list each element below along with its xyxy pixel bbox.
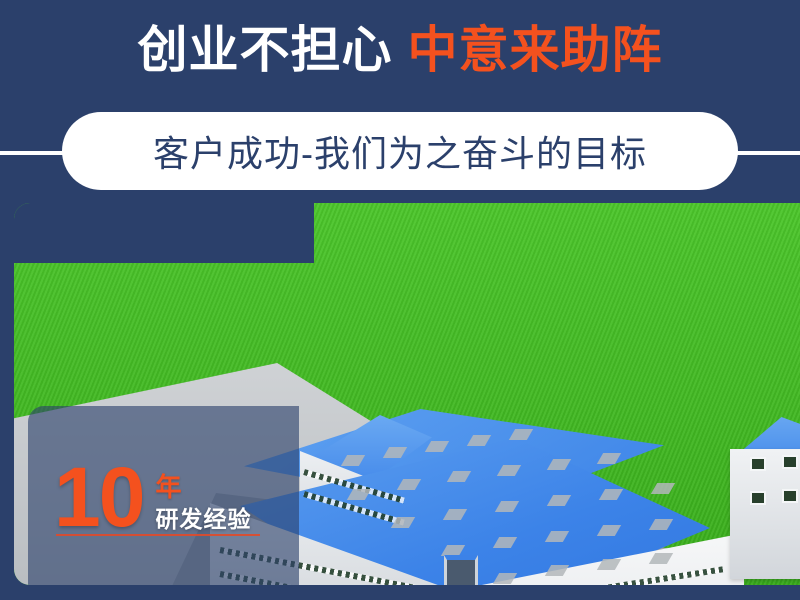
stat-divider: [56, 534, 260, 536]
left-navy-strip: [0, 200, 14, 600]
sky-strip: [14, 203, 314, 263]
banner-root: 创业不担心 中意来助阵 客户成功-我们为之奋斗的目标: [0, 0, 800, 600]
headline: 创业不担心 中意来助阵: [0, 20, 800, 80]
headline-orange-part: 中意来助阵: [407, 22, 662, 78]
stat-number: 10: [54, 458, 143, 536]
headline-white-part: 创业不担心: [138, 22, 393, 78]
facade-window: [782, 489, 798, 503]
facade-window: [782, 455, 798, 469]
stat-item-years: 10 年 研发经验: [28, 428, 299, 536]
stats-overlay-panel: 10 年 研发经验 24 时 全天在线: [28, 406, 299, 585]
facade-window: [750, 491, 766, 505]
header-section: 创业不担心 中意来助阵 客户成功-我们为之奋斗的目标: [0, 0, 800, 200]
stat-item-hours: 24 时 全天在线: [28, 556, 299, 585]
stat-unit: 年: [155, 472, 181, 502]
bottom-navy-strip: [0, 585, 800, 600]
facade-window: [750, 457, 766, 471]
factory-photo-panel: 中意矿机 ZOONYE Zhongyikuangji pxh 10 年 研发经验: [14, 203, 800, 585]
stat-desc: 研发经验: [155, 506, 251, 532]
subtitle-pill: 客户成功-我们为之奋斗的目标: [62, 112, 738, 190]
loading-door: [444, 555, 478, 585]
subtitle-text: 客户成功-我们为之奋斗的目标: [153, 125, 647, 177]
